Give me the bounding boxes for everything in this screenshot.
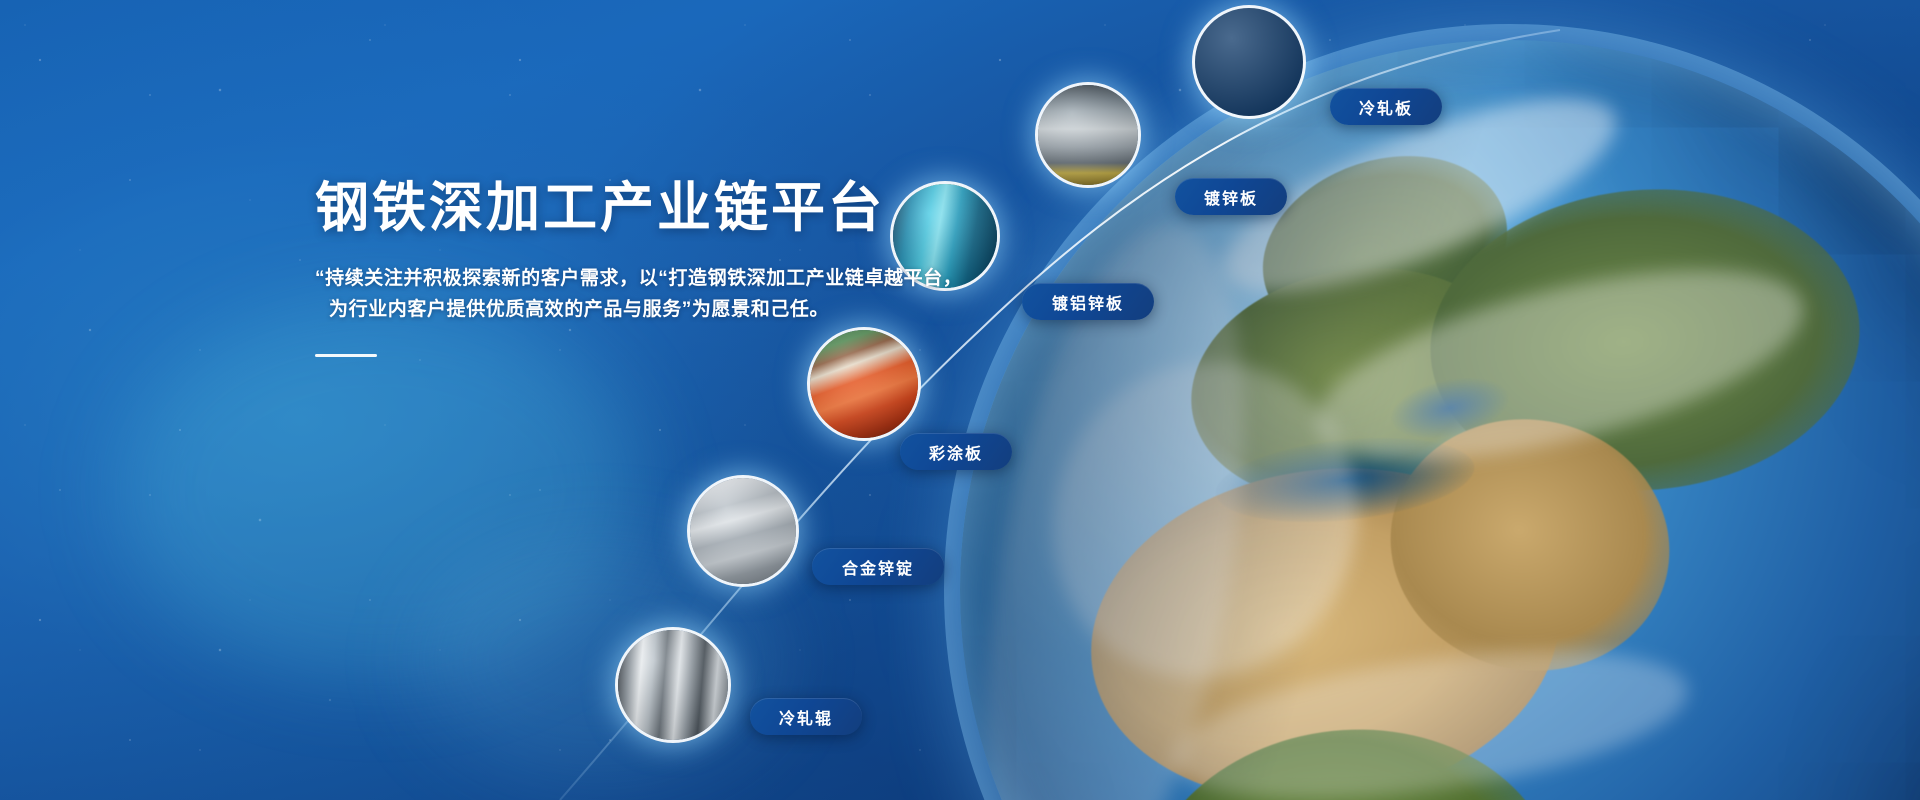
thumb-image-shading	[1038, 85, 1138, 185]
background-glow-left	[120, 300, 640, 680]
cold-roll-photo[interactable]	[618, 630, 728, 740]
product-label-zinc-alloy-ingot[interactable]: 合金锌锭	[812, 548, 944, 585]
title-underline-divider	[315, 354, 377, 357]
thumb-image-shading	[618, 630, 728, 740]
thumb-image-shading	[1195, 8, 1303, 116]
hero-text-block: 钢铁深加工产业链平台 “持续关注并积极探索新的客户需求，以“打造钢铁深加工产业链…	[315, 178, 975, 357]
steel-coil-photo[interactable]	[1195, 8, 1303, 116]
zinc-ingot-photo[interactable]	[690, 478, 796, 584]
product-label-cold-rolled-sheet[interactable]: 冷轧板	[1330, 88, 1442, 125]
product-label-galvanized-sheet[interactable]: 镀锌板	[1175, 178, 1287, 215]
hero-subtitle-line-2: 为行业内客户提供优质高效的产品与服务”为愿景和己任。	[315, 295, 975, 326]
product-label-aluzinc-sheet[interactable]: 镀铝锌板	[1022, 283, 1154, 320]
galvanized-warehouse-photo[interactable]	[1038, 85, 1138, 185]
page-title: 钢铁深加工产业链平台	[315, 178, 975, 238]
hero-subtitle-line-1: “持续关注并积极探索新的客户需求，以“打造钢铁深加工产业链卓越平台，	[315, 264, 975, 295]
banner-hero: 冷轧板 镀锌板 镀铝锌板 彩涂板 合金锌锭	[0, 0, 1920, 800]
product-label-cold-rolling-roll[interactable]: 冷轧辊	[750, 698, 862, 735]
product-label-color-coated-sheet[interactable]: 彩涂板	[900, 433, 1012, 470]
thumb-image-shading	[690, 478, 796, 584]
